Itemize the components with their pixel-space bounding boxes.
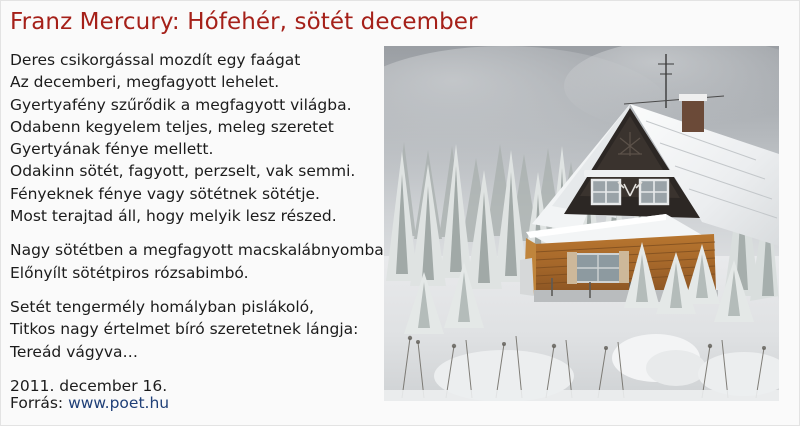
poem-line: Fényeknek fénye vagy sötétnek sötétje. [10,183,375,205]
source-link[interactable]: www.poet.hu [68,394,169,412]
article-page: Franz Mercury: Hófehér, sötét december D… [0,0,800,426]
poem-line: Gyertyának fénye mellett. [10,138,375,160]
poem-line: Az decemberi, megfagyott lehelet. [10,71,375,93]
poem-line: Most terajtad áll, hogy melyik lesz rész… [10,205,375,227]
stanza-separator [10,227,375,239]
article-content: Franz Mercury: Hófehér, sötét december D… [1,1,800,426]
poem-line: Gyertyafény szűrődik a megfagyott világb… [10,94,375,116]
page-title: Franz Mercury: Hófehér, sötét december [10,8,478,36]
stanza-separator [10,363,375,375]
poem-line: Titkos nagy értelmet bíró szeretetnek lá… [10,318,375,340]
poem-line: Setét tengermély homályban pislákoló, [10,296,375,318]
stanza-separator [10,284,375,296]
winter-cabin-illustration [384,46,779,401]
poem-line: Odabenn kegyelem teljes, meleg szeretet [10,116,375,138]
winter-cabin-photo [384,46,779,401]
poem-line: Odakinn sötét, fagyott, perzselt, vak se… [10,160,375,182]
poem-line: Tereád vágyva… [10,341,375,363]
source-label: Forrás: [10,394,63,412]
poem-line: Előnyílt sötétpiros rózsabimbó. [10,262,375,284]
poem-line: Deres csikorgással mozdít egy faágat [10,49,375,71]
poem-line: Nagy sötétben a megfagyott macskalábnyom… [10,239,375,261]
source-credit: Forrás: www.poet.hu [10,393,169,413]
poem-body: Deres csikorgással mozdít egy faágat Az … [10,49,375,397]
